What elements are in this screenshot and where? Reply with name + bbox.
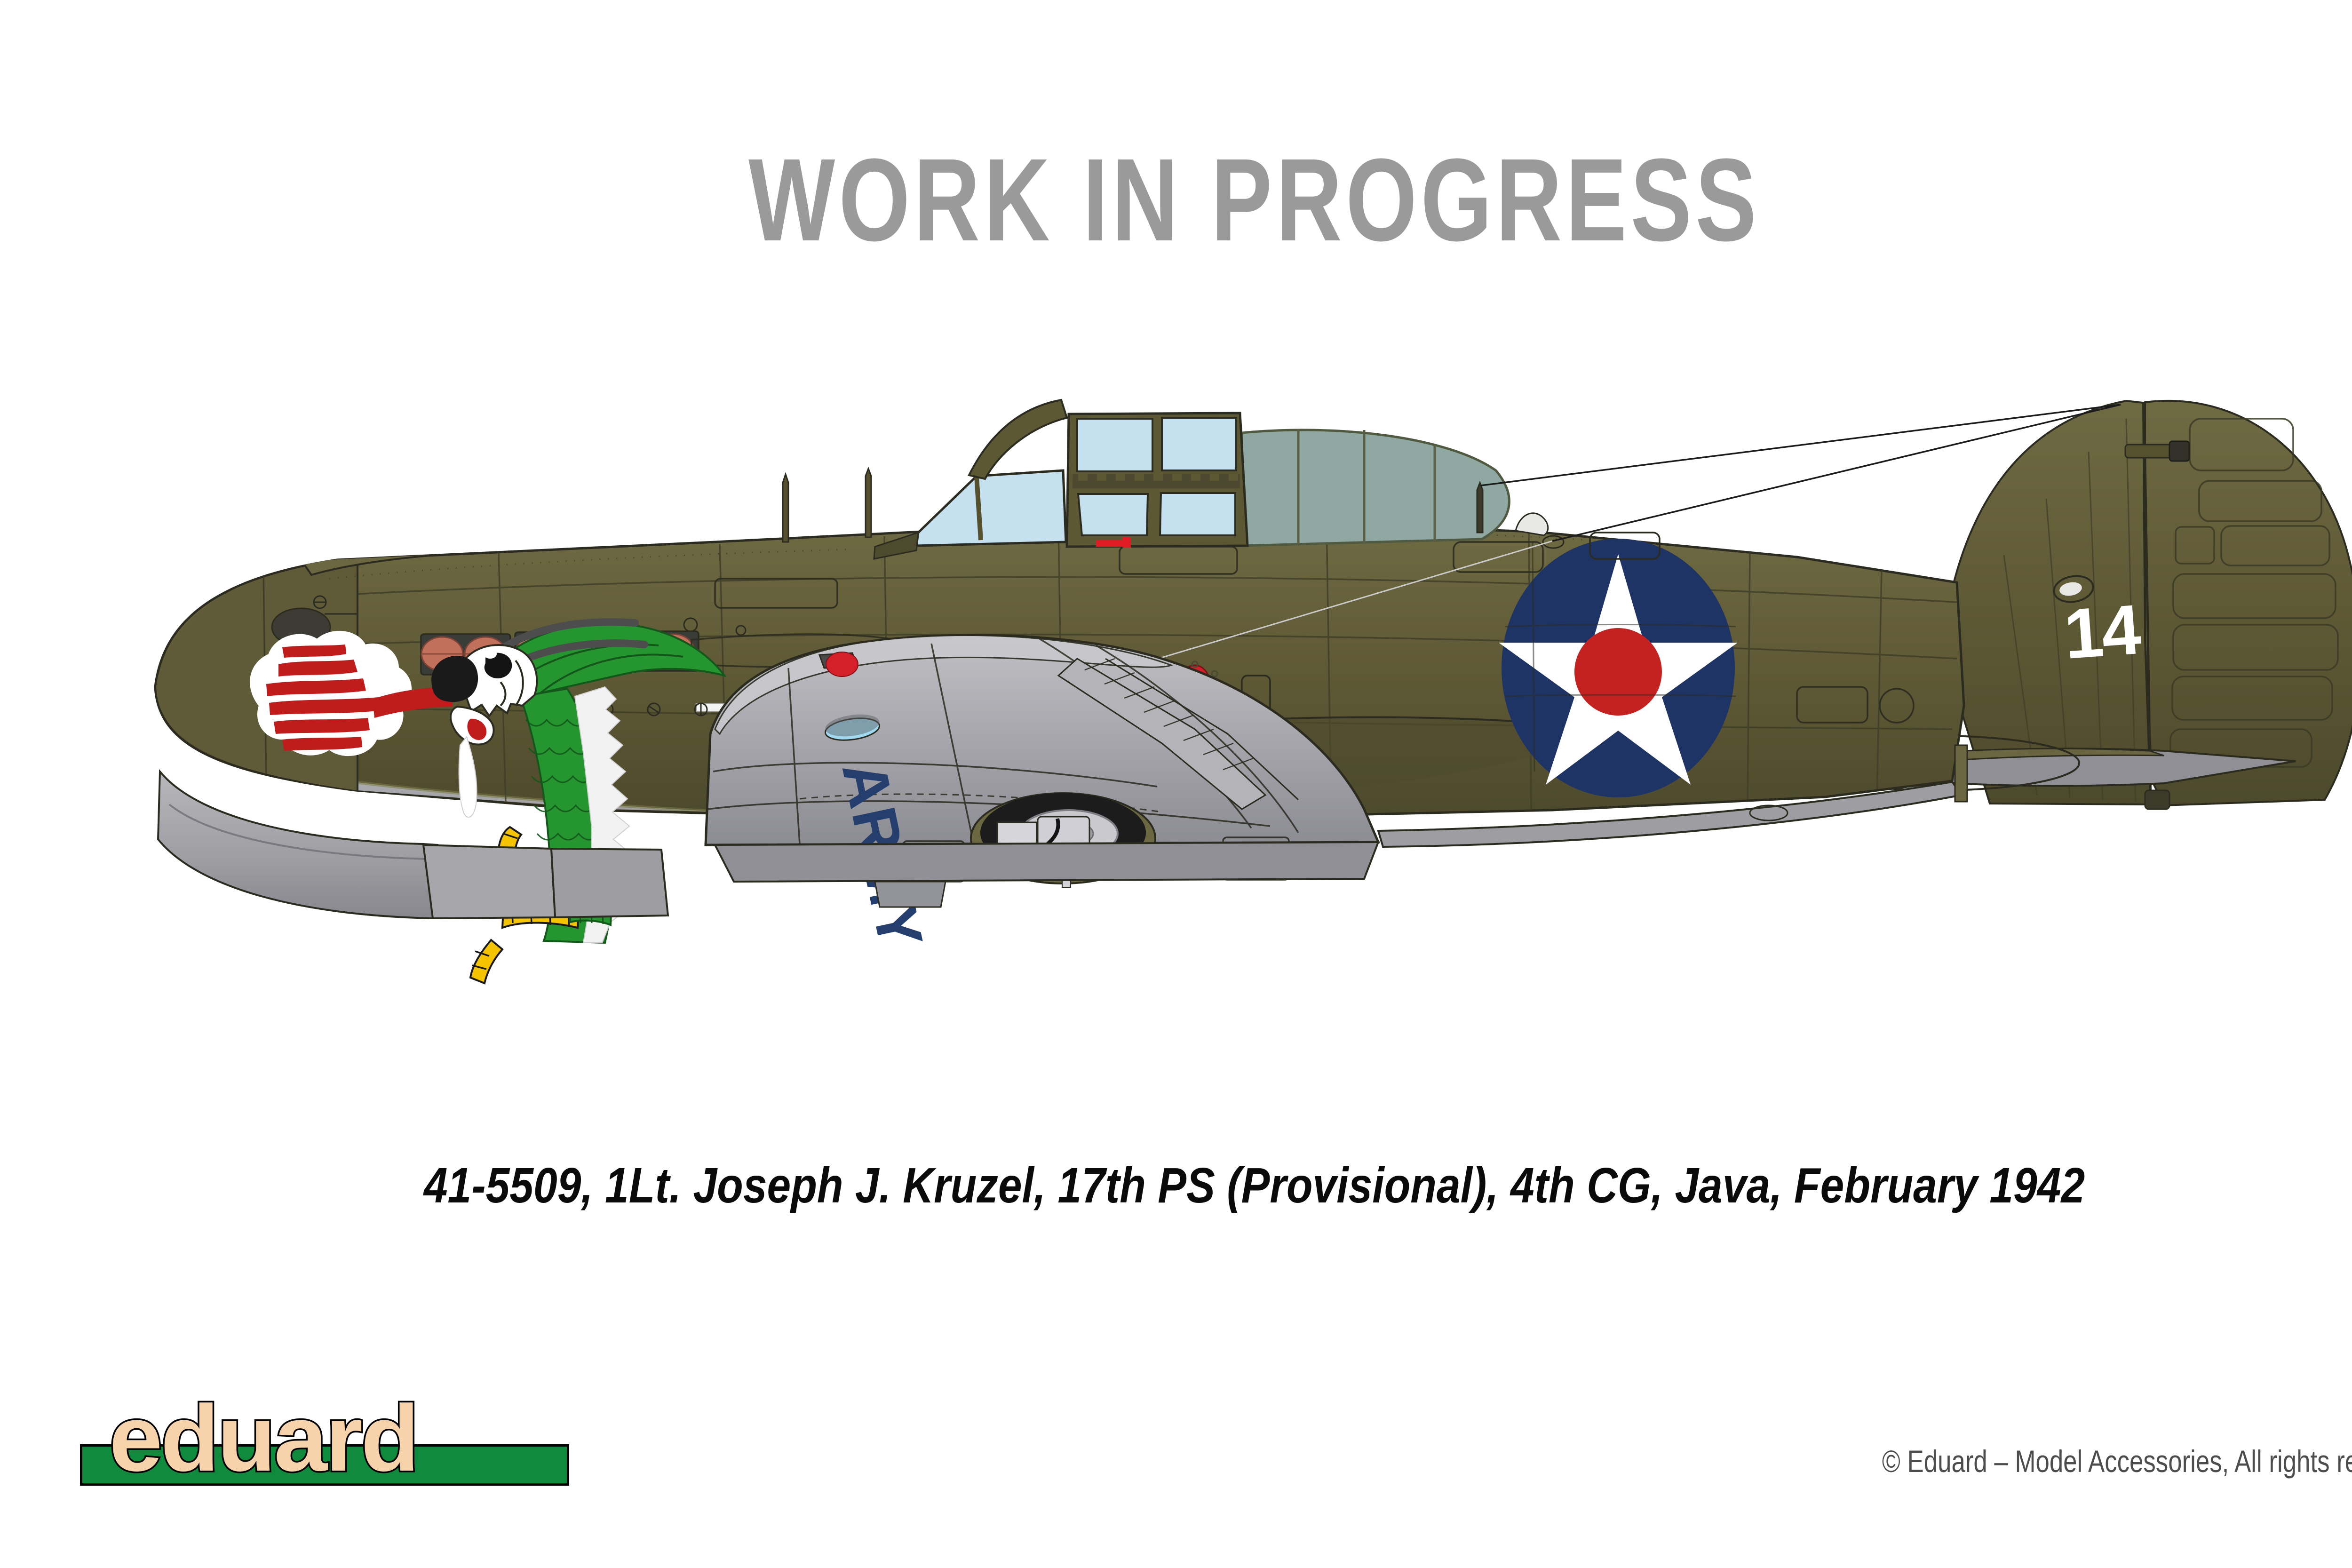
aircraft-profile-illustration: 14: [0, 358, 2352, 1091]
canopy-release-handle: [1096, 540, 1126, 547]
rudder-trim-tab: [2125, 441, 2189, 461]
copyright-notice: © Eduard – Model Accessories, All rights…: [1882, 1443, 2352, 1479]
windscreen-fairing: [969, 400, 1067, 479]
windscreen: [916, 470, 1066, 546]
canopy-assembly: [874, 400, 1509, 559]
canopy-rear-glazing: [1242, 430, 1509, 546]
eduard-logo: eduard: [80, 1383, 579, 1501]
canopy-serration-teeth: [1078, 474, 1238, 481]
illustration-page: WORK IN PROGRESS: [0, 0, 2352, 1568]
page-title: WORK IN PROGRESS: [276, 141, 2233, 259]
eduard-wordmark: eduard: [109, 1392, 418, 1486]
caption-text: 41-5509, 1Lt. Joseph J. Kruzel, 17th PS …: [175, 1157, 2333, 1214]
radio-antenna-bulge: [1516, 513, 1548, 535]
tail-assembly: 14: [1951, 401, 2352, 805]
